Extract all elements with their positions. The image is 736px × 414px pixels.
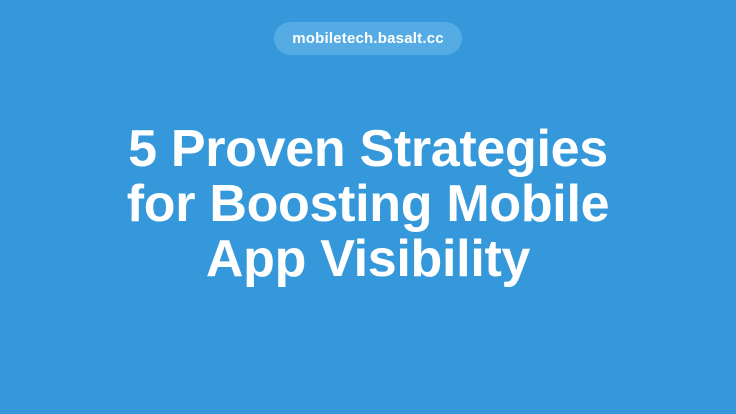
headline: 5 Proven Strategies for Boosting Mobile … xyxy=(0,122,736,287)
headline-line-1: 5 Proven Strategies xyxy=(0,122,736,177)
url-badge-container: mobiletech.basalt.cc xyxy=(0,22,736,55)
url-badge-text: mobiletech.basalt.cc xyxy=(292,31,444,46)
url-badge: mobiletech.basalt.cc xyxy=(274,22,462,55)
headline-line-3: App Visibility xyxy=(0,232,736,287)
headline-line-2: for Boosting Mobile xyxy=(0,177,736,232)
promo-card: mobiletech.basalt.cc 5 Proven Strategies… xyxy=(0,0,736,414)
